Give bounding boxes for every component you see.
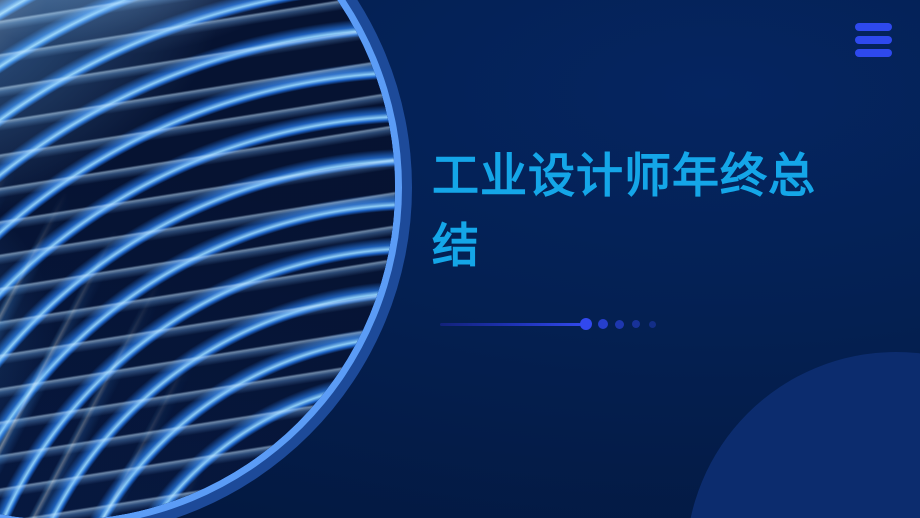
hero-image-circle	[0, 0, 395, 518]
accent-line	[440, 323, 581, 326]
title-slide: 工业设计师年终总结	[0, 0, 920, 518]
abstract-swirl-artwork	[0, 0, 395, 518]
accent-dot-4	[632, 320, 640, 328]
hamburger-bar-1	[855, 23, 892, 31]
accent-decoration	[440, 316, 665, 332]
accent-dot-3	[615, 320, 624, 329]
accent-dot-1	[580, 318, 592, 330]
accent-dot-5	[649, 321, 656, 328]
accent-dot-2	[598, 319, 608, 329]
hamburger-bar-2	[855, 36, 892, 44]
hamburger-bar-3	[855, 49, 892, 57]
slide-title: 工业设计师年终总结	[432, 141, 852, 281]
hamburger-menu-icon[interactable]	[855, 23, 892, 57]
